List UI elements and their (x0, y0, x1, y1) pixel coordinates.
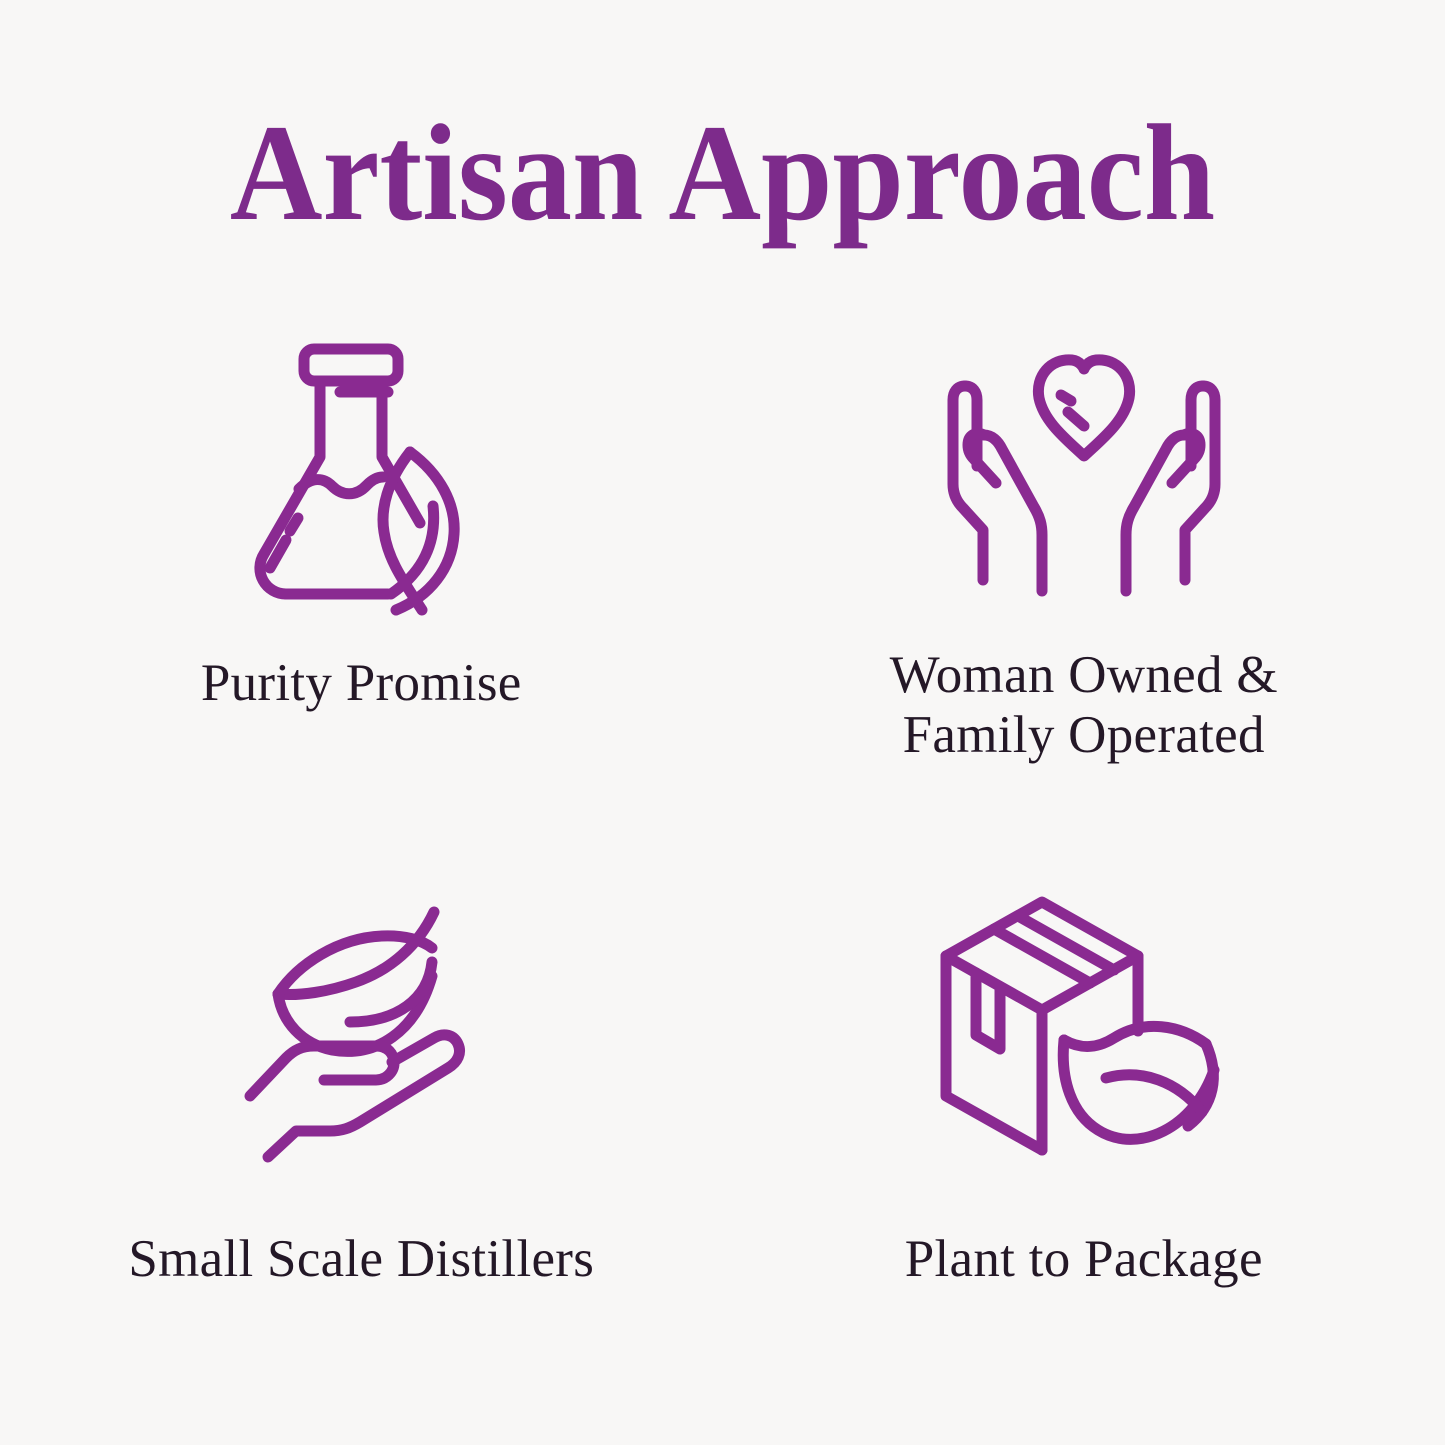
left-hand-palm (984, 435, 1042, 591)
hand-leaf-icon-svg (236, 900, 486, 1150)
feature-item-purity-promise: Purity Promise (0, 330, 723, 860)
box-flap-line-1 (994, 929, 1090, 983)
box-leaf-icon-svg (934, 900, 1234, 1150)
right-hand-palm (1126, 435, 1184, 591)
flask-leaf-icon (0, 330, 723, 630)
hands-heart-icon (723, 330, 1445, 620)
feature-item-plant-to-package: Plant to Package (723, 860, 1445, 1390)
flask-leaf-icon-svg (236, 335, 486, 625)
feature-grid: Purity Promise (0, 330, 1445, 1390)
flask-liquid-line (299, 477, 383, 494)
heart-outline (1038, 360, 1129, 456)
leaf-stem (278, 912, 434, 995)
artisan-approach-infographic: Artisan Approach (0, 0, 1445, 1445)
box-flap-line-2 (1018, 916, 1114, 970)
page-title: Artisan Approach (51, 104, 1395, 242)
flask-shine-short (290, 518, 298, 531)
feature-item-small-scale-distillers: Small Scale Distillers (0, 860, 723, 1390)
heart-shine-long (1068, 412, 1084, 426)
feature-label: Plant to Package (905, 1230, 1263, 1290)
feature-label: Small Scale Distillers (128, 1230, 594, 1290)
hands-heart-icon-svg (939, 340, 1229, 610)
feature-item-woman-owned: Woman Owned & Family Operated (723, 330, 1445, 860)
box-leaf-icon (723, 880, 1445, 1170)
feature-label: Purity Promise (201, 654, 522, 714)
hand-leaf-icon (0, 880, 723, 1170)
flask-rim (304, 349, 398, 381)
heart-shine-short (1061, 395, 1071, 401)
feature-label: Woman Owned & Family Operated (890, 646, 1278, 766)
leaf-top-edge (1064, 1026, 1206, 1046)
